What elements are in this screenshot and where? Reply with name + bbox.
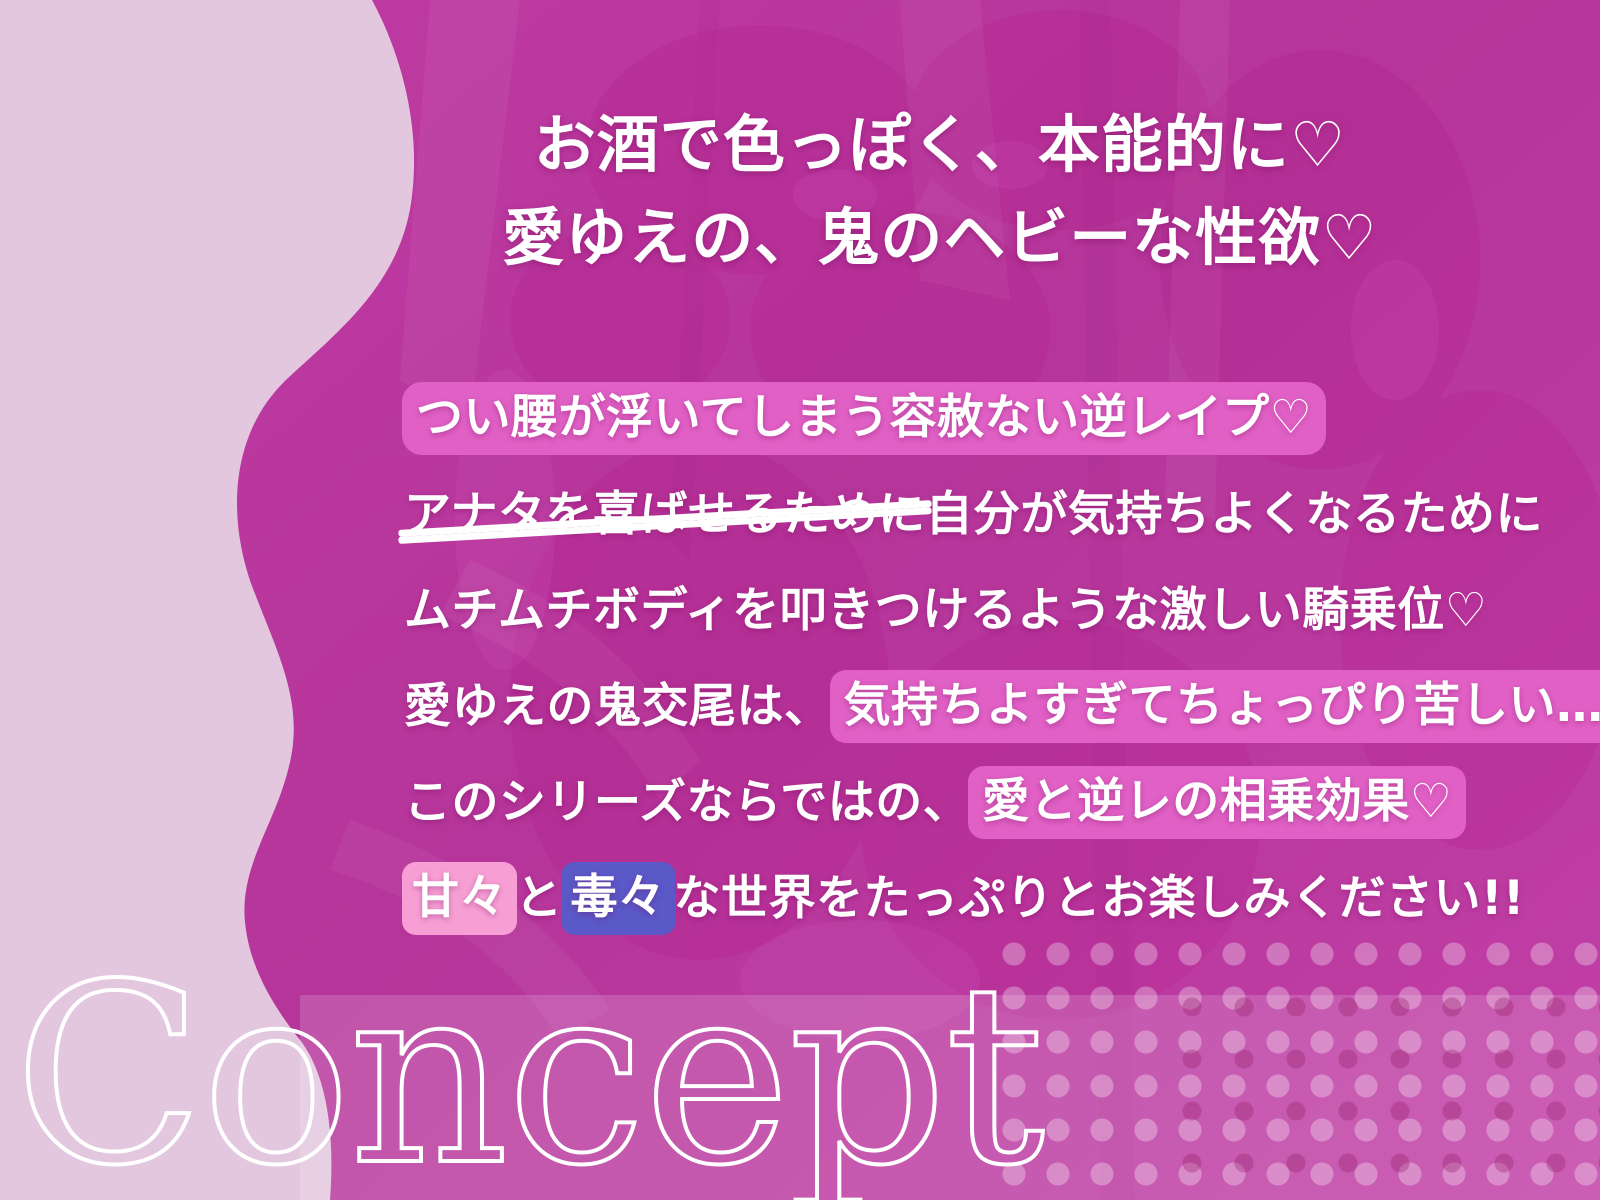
body-line-4: 愛ゆえの鬼交尾は、気持ちよすぎてちょっぴり苦しい… [404,658,1524,754]
body-line-6-mid: と [515,875,563,922]
highlight-synergy-love-reverse: 愛と逆レの相乗効果♡ [968,766,1466,839]
body-line-5-plain: このシリーズならではの、 [404,779,970,826]
headline: お酒で色っぽく、本能的に♡ 愛ゆえの、鬼のヘビーな性欲♡ [300,98,1580,284]
body-line-5: このシリーズならではの、愛と逆レの相乗効果♡ [404,754,1524,850]
highlight-sweet: 甘々 [402,862,517,935]
body-line-4-plain: 愛ゆえの鬼交尾は、 [404,683,832,730]
body-line-6: 甘々と毒々な世界をたっぷりとお楽しみください!! [404,850,1524,946]
body-line-3: ムチムチボディを叩きつけるような激しい騎乗位♡ [404,562,1524,658]
headline-line-2: 愛ゆえの、鬼のヘビーな性欲♡ [300,191,1580,284]
body-copy: つい腰が浮いてしまう容赦ない逆レイプ♡ アナタを喜ばせるために自分が気持ちよくな… [404,370,1524,946]
highlight-too-good-slightly-painful: 気持ちよすぎてちょっぴり苦しい… [830,670,1600,743]
highlight-reverse-rape: つい腰が浮いてしまう容赦ない逆レイプ♡ [402,382,1326,455]
body-line-2: アナタを喜ばせるために自分が気持ちよくなるために [404,466,1524,562]
content-layer: お酒で色っぽく、本能的に♡ 愛ゆえの、鬼のヘビーな性欲♡ つい腰が浮いてしまう容… [0,0,1600,1200]
struck-text-for-your-pleasure: アナタを喜ばせるために [404,491,926,538]
concept-banner: Concept お酒で色っぽく、本能的に♡ 愛ゆえの、鬼のヘビーな性欲♡ つい腰… [0,0,1600,1200]
body-line-6-tail: な世界をたっぷりとお楽しみください!! [674,875,1525,922]
highlight-poison: 毒々 [561,862,676,935]
headline-line-1: お酒で色っぽく、本能的に♡ [300,98,1580,191]
body-line-3-plain: ムチムチボディを叩きつけるような激しい騎乗位♡ [404,587,1487,634]
body-line-1: つい腰が浮いてしまう容赦ない逆レイプ♡ [404,370,1524,466]
body-line-2-plain: 自分が気持ちよくなるために [926,491,1544,538]
